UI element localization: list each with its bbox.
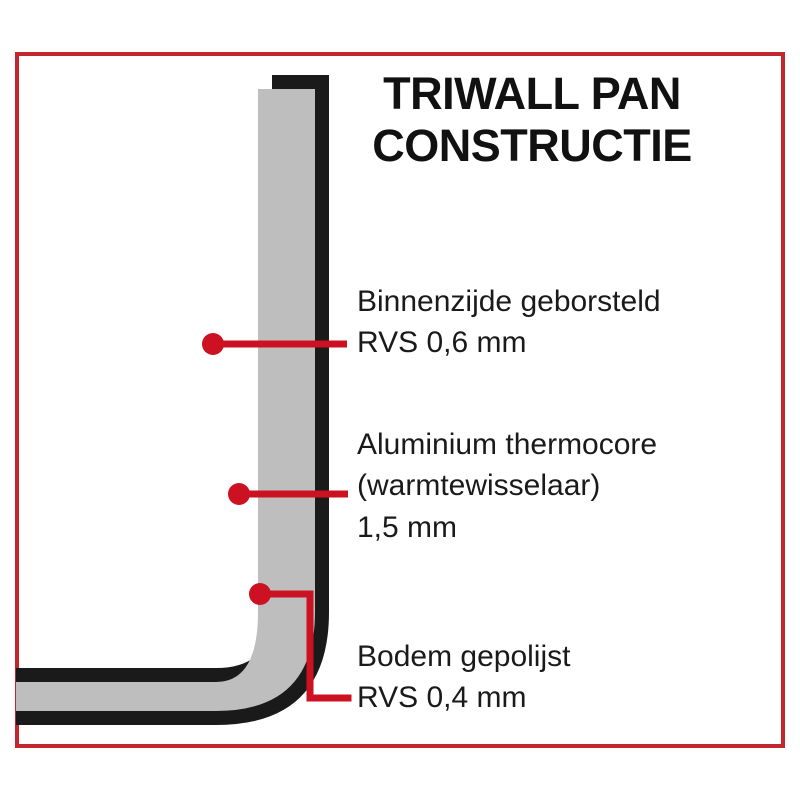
page-title-line-1: TRIWALL PAN — [322, 68, 742, 120]
leader-dot-thermocore — [228, 483, 250, 505]
pan-construction-infographic: TRIWALL PAN CONSTRUCTIE Binnenzijde gebo… — [0, 0, 800, 800]
page-title: TRIWALL PAN CONSTRUCTIE — [322, 68, 742, 172]
annotation-thermocore-line-1: Aluminium thermocore — [357, 424, 657, 465]
annotation-binnenzijde-line-1: Binnenzijde geborsteld — [357, 281, 661, 322]
annotation-bodem-line-2: RVS 0,4 mm — [357, 677, 570, 718]
leader-dot-binnenzijde — [202, 333, 224, 355]
annotation-thermocore-line-3: 1,5 mm — [357, 507, 657, 548]
page-title-line-2: CONSTRUCTIE — [322, 120, 742, 172]
annotation-thermocore: Aluminium thermocore (warmtewisselaar) 1… — [357, 424, 657, 548]
annotation-bodem: Bodem gepolijst RVS 0,4 mm — [357, 636, 570, 719]
annotation-bodem-line-1: Bodem gepolijst — [357, 636, 570, 677]
annotation-binnenzijde-line-2: RVS 0,6 mm — [357, 322, 661, 363]
annotation-thermocore-line-2: (warmtewisselaar) — [357, 465, 657, 506]
annotation-binnenzijde: Binnenzijde geborsteld RVS 0,6 mm — [357, 281, 661, 364]
leader-dot-bodem — [249, 583, 271, 605]
aluminium-core-path — [16, 89, 315, 711]
